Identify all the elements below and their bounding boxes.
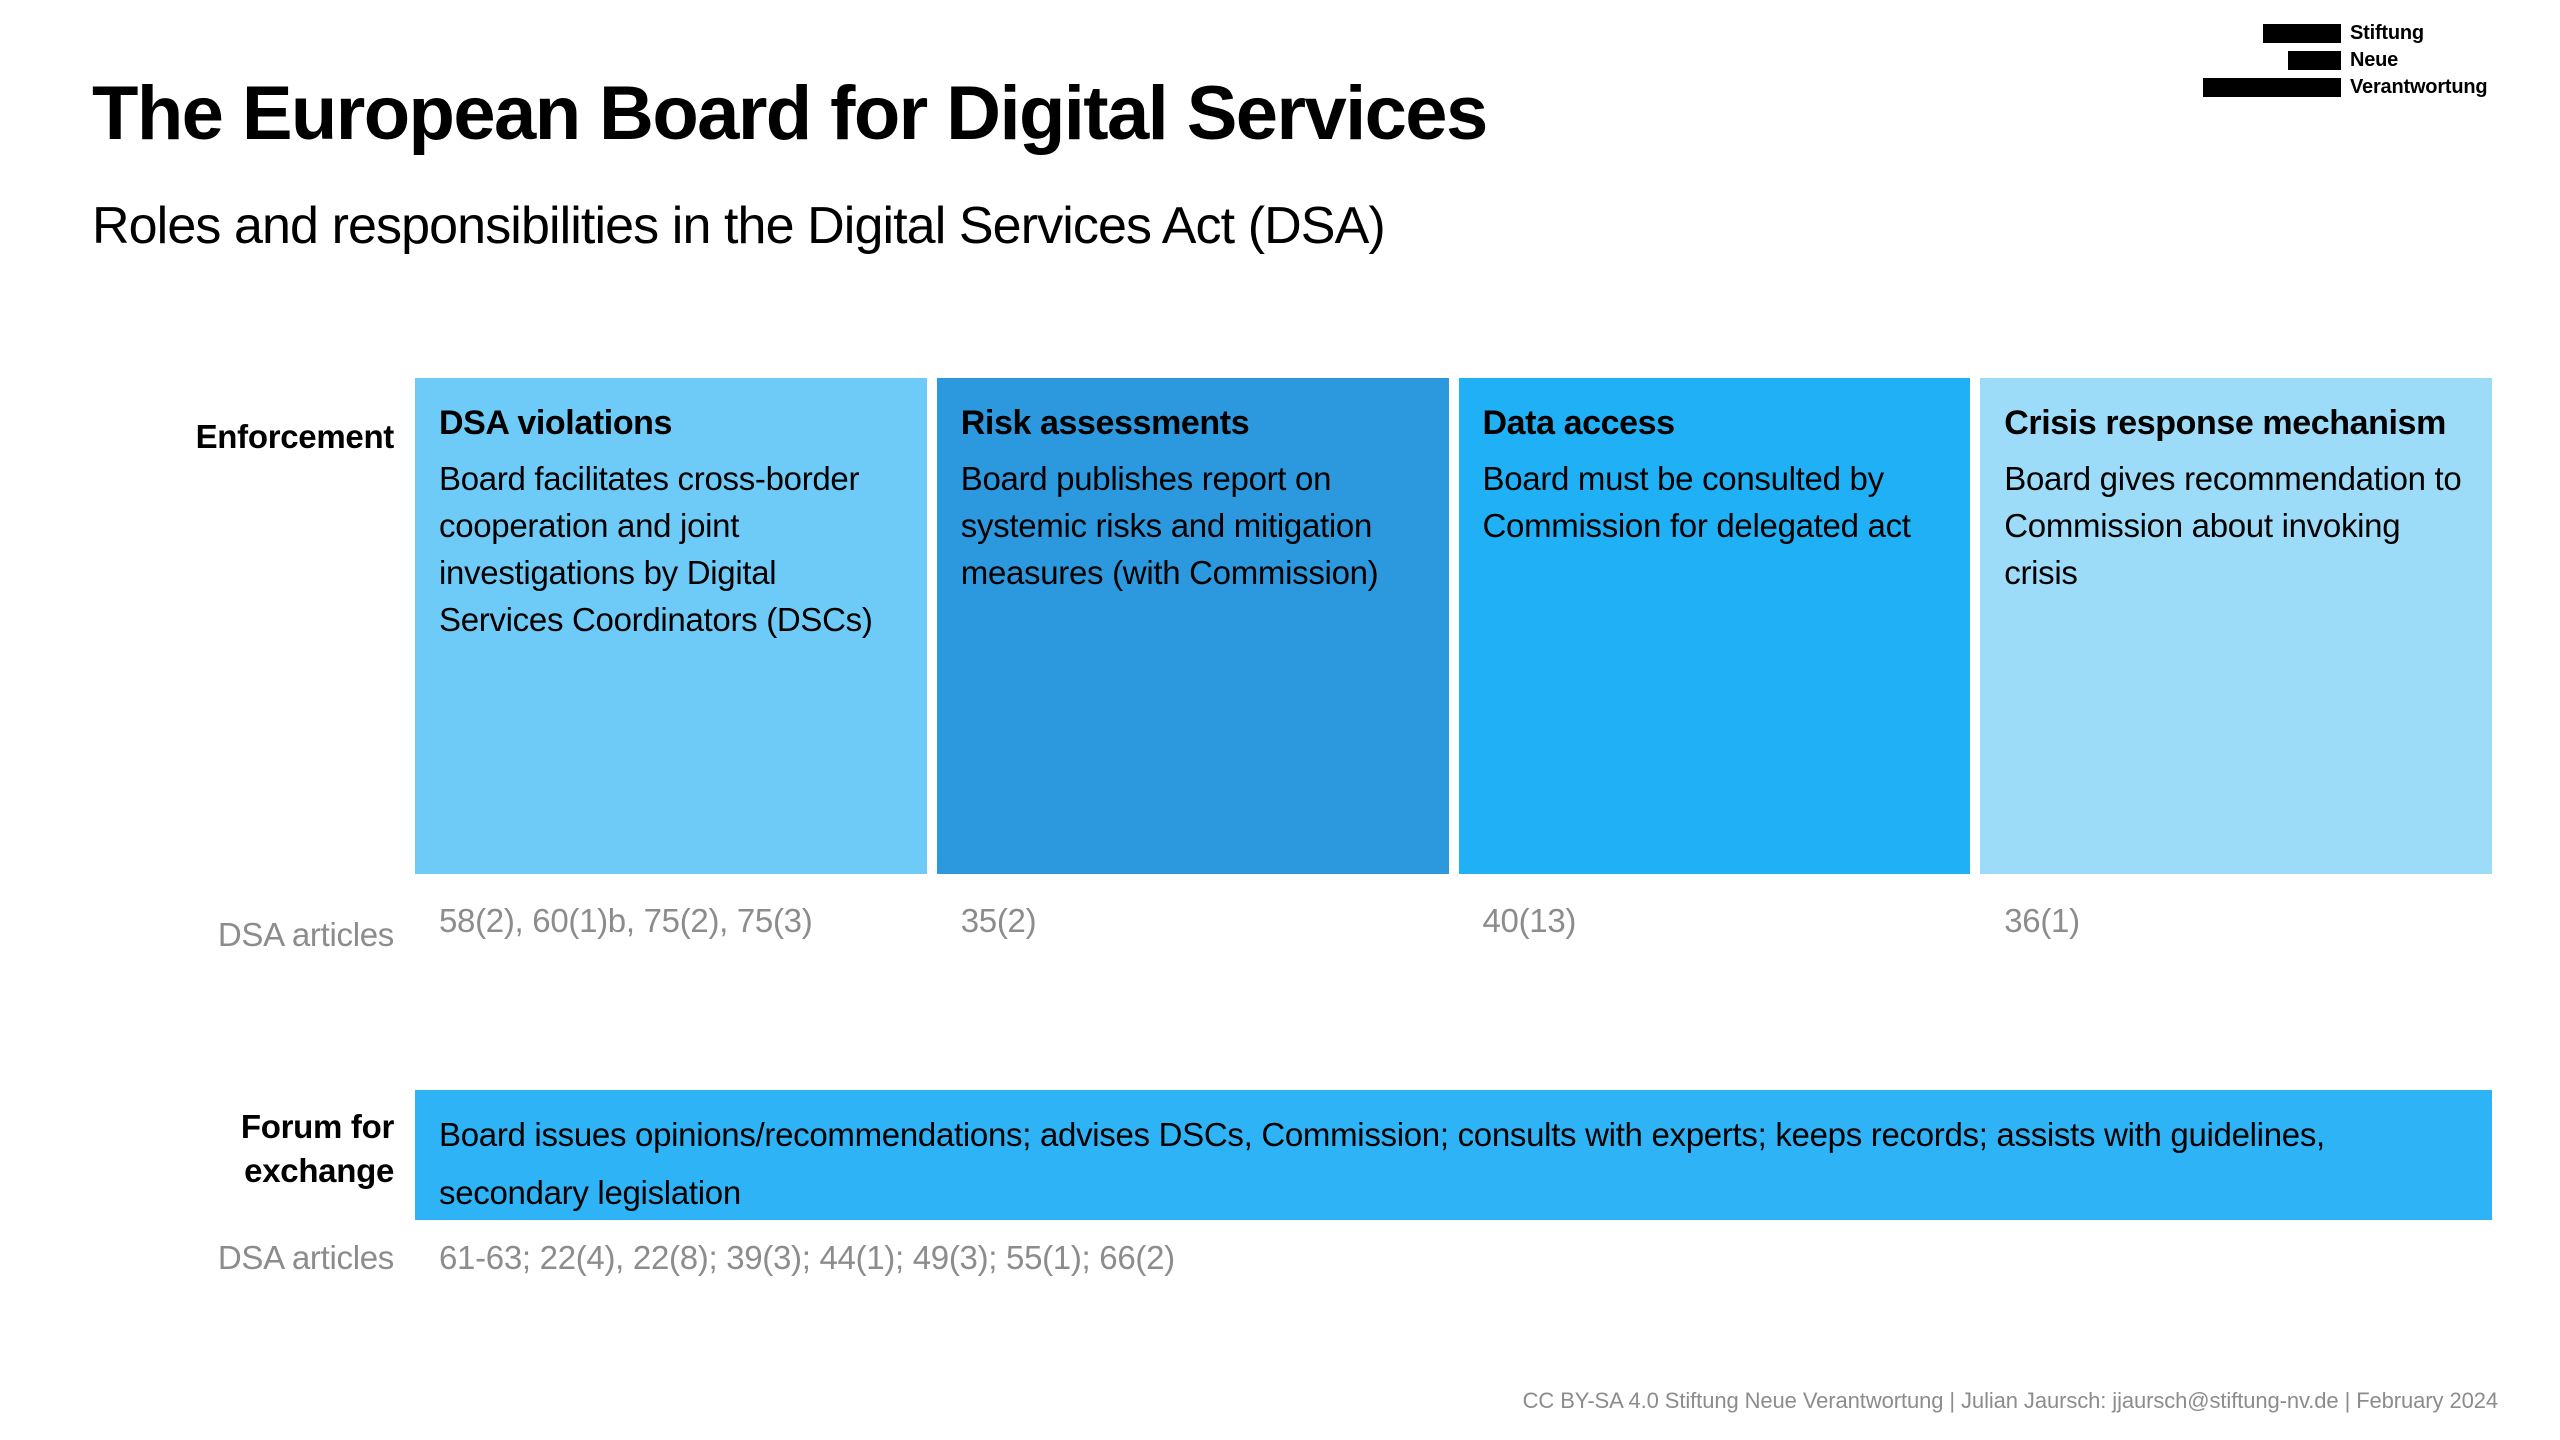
logo-bar-icon [2203, 78, 2341, 97]
page-subtitle: Roles and responsibilities in the Digita… [92, 196, 1385, 256]
card-dsa-violations: DSA violations Board facilitates cross-b… [415, 378, 927, 874]
logo-bar-icon [2288, 51, 2341, 70]
enforcement-articles-row: 58(2), 60(1)b, 75(2), 75(3) 35(2) 40(13)… [415, 898, 2492, 943]
articles-dsa-violations: 58(2), 60(1)b, 75(2), 75(3) [415, 898, 927, 943]
articles-crisis-response: 36(1) [1980, 898, 2492, 943]
snv-logo: Stiftung Neue Verantwortung [2203, 22, 2498, 98]
page-title: The European Board for Digital Services [92, 72, 1487, 156]
logo-label-stiftung: Stiftung [2350, 23, 2498, 43]
card-body: Board gives recommendation to Commission… [2004, 455, 2468, 596]
enforcement-cards: DSA violations Board facilitates cross-b… [415, 378, 2492, 874]
card-risk-assessments: Risk assessments Board publishes report … [937, 378, 1449, 874]
forum-text: Board issues opinions/recommendations; a… [439, 1106, 2468, 1222]
footer-credit: CC BY-SA 4.0 Stiftung Neue Verantwortung… [1523, 1388, 2498, 1414]
logo-row-stiftung: Stiftung [2263, 22, 2498, 44]
card-title: Data access [1483, 404, 1947, 443]
forum-bar: Board issues opinions/recommendations; a… [415, 1090, 2492, 1220]
card-body: Board facilitates cross-border cooperati… [439, 455, 903, 643]
forum-row-label: Forum for exchange [104, 1105, 394, 1193]
infographic-page: Stiftung Neue Verantwortung The European… [0, 0, 2560, 1440]
forum-articles-label: DSA articles [104, 1238, 394, 1278]
card-title: Risk assessments [961, 404, 1425, 443]
forum-articles-value: 61-63; 22(4), 22(8); 39(3); 44(1); 49(3)… [439, 1238, 1175, 1278]
logo-row-verantwortung: Verantwortung [2203, 76, 2498, 98]
logo-row-neue: Neue [2288, 49, 2498, 71]
logo-label-verantwortung: Verantwortung [2350, 77, 2498, 97]
card-title: Crisis response mechanism [2004, 404, 2468, 443]
articles-risk-assessments: 35(2) [937, 898, 1449, 943]
enforcement-articles-label: DSA articles [104, 915, 394, 955]
card-body: Board publishes report on systemic risks… [961, 455, 1425, 596]
enforcement-row-label: Enforcement [104, 418, 394, 456]
card-body: Board must be consulted by Commission fo… [1483, 455, 1947, 549]
card-title: DSA violations [439, 404, 903, 443]
articles-data-access: 40(13) [1459, 898, 1971, 943]
logo-label-neue: Neue [2350, 50, 2498, 70]
logo-bar-icon [2263, 24, 2341, 43]
card-crisis-response-mechanism: Crisis response mechanism Board gives re… [1980, 378, 2492, 874]
card-data-access: Data access Board must be consulted by C… [1459, 378, 1971, 874]
